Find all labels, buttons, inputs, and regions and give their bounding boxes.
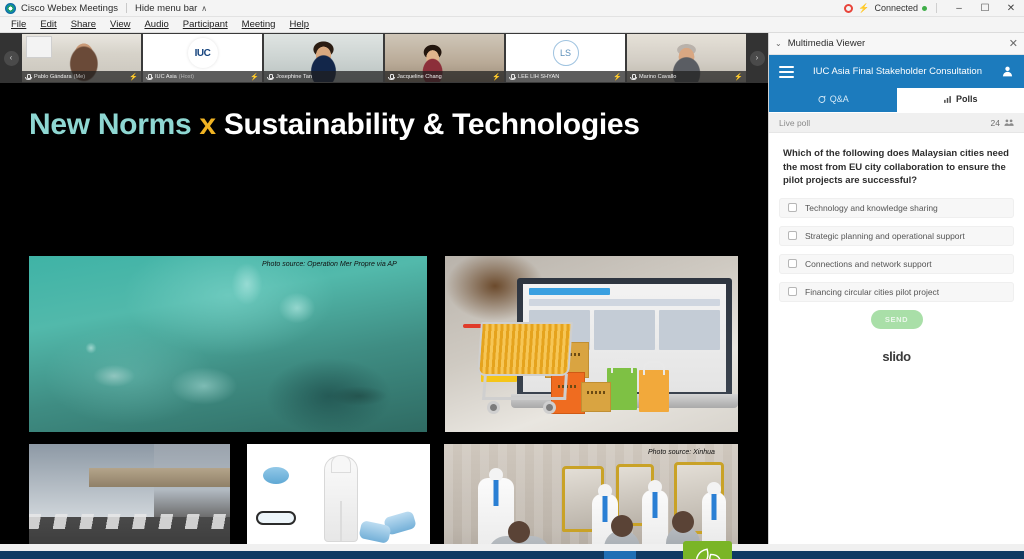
send-button[interactable]: SEND [871, 310, 923, 329]
cart-basket [477, 322, 573, 376]
tab-qa-label: Q&A [830, 94, 849, 104]
poll-question: Which of the following does Malaysian ci… [769, 133, 1024, 198]
close-panel-button[interactable]: ✕ [1009, 37, 1018, 50]
microphone-icon [630, 74, 636, 80]
multimedia-viewer-header: ⌄ Multimedia Viewer ✕ [769, 33, 1024, 55]
shopping-bag-orange [639, 370, 669, 412]
title-divider [936, 3, 937, 13]
thumbnail-list: Pablo Gándara (Me) ⚡ IUC IUC Asia (Host)… [22, 33, 746, 83]
connection-dot-icon [922, 6, 927, 11]
title-bar: Cisco Webex Meetings Hide menu bar ∧ ⚡ C… [0, 0, 1024, 17]
thumbnail-iuc-asia[interactable]: IUC IUC Asia (Host) ⚡ [143, 34, 262, 82]
menu-edit[interactable]: Edit [33, 17, 63, 33]
muted-icon: ⚡ [129, 74, 138, 81]
participant-count: 24 [991, 118, 1000, 128]
thumbnail-josephine-tan[interactable]: Josephine Tan [264, 34, 383, 82]
thumbnail-name-row: Jacqueline Chang ⚡ [385, 71, 504, 82]
poll-option-label: Strategic planning and operational suppo… [805, 231, 965, 241]
thumbnail-name-row: Josephine Tan [264, 71, 383, 82]
iuc-asia-logo-icon: IUC [188, 38, 218, 68]
maximize-button[interactable]: ☐ [972, 0, 998, 17]
slide-photo-street-mask [29, 444, 230, 559]
slide-corner-artifact [26, 36, 52, 58]
hamburger-menu-icon[interactable] [779, 66, 794, 78]
muted-icon: ⚡ [734, 74, 743, 81]
crosswalk-stripes [29, 514, 230, 529]
shopping-cart-illustration [469, 316, 589, 416]
thumbnail-pablo-gandara[interactable]: Pablo Gándara (Me) ⚡ [22, 34, 141, 82]
thumbnail-name-row: LEE LIH SHYAN ⚡ [506, 71, 625, 82]
menu-help[interactable]: Help [282, 17, 316, 33]
thumbnail-lee-lih-shyan[interactable]: LS LEE LIH SHYAN ⚡ [506, 34, 625, 82]
poll-option-4[interactable]: Financing circular cities pilot project [779, 282, 1014, 302]
menu-file-label: File [11, 19, 26, 30]
pedestrian-bridge [89, 468, 230, 486]
chevron-right-icon: › [750, 51, 765, 66]
chevron-left-icon: ‹ [4, 51, 19, 66]
menu-bar: File Edit Share View Audio Participant M… [0, 17, 1024, 33]
participant-name: Pablo Gándara [34, 74, 72, 80]
thumbnail-name-row: Marino Cavallo ⚡ [627, 71, 746, 82]
minimize-button[interactable]: – [946, 0, 972, 17]
thumbnail-name-row: Pablo Gándara (Me) ⚡ [22, 71, 141, 82]
poll-option-label: Technology and knowledge sharing [805, 203, 938, 213]
avatar: LS [553, 40, 579, 66]
menu-file[interactable]: File [4, 17, 33, 33]
screen-bar [529, 299, 720, 306]
cart-legs [482, 374, 568, 400]
participant-filmstrip: ‹ Pablo Gándara (Me) ⚡ IUC IUC Asia [0, 33, 768, 83]
menu-share[interactable]: Share [64, 17, 103, 33]
filmstrip-next-button[interactable]: › [746, 33, 768, 83]
bar-chart-icon [943, 95, 952, 104]
multimedia-viewer-panel: ⌄ Multimedia Viewer ✕ IUC Asia Final Sta… [768, 33, 1024, 544]
participant-name: Marino Cavallo [639, 74, 676, 80]
parcel-box-bottom [581, 382, 611, 412]
tab-polls-label: Polls [956, 94, 978, 104]
penang-green-council-logo: PENANG GREEN COUNCIL [683, 541, 732, 559]
chevron-up-icon[interactable]: ∧ [201, 4, 207, 13]
chevron-down-icon[interactable]: ⌄ [775, 39, 782, 48]
thumbnail-jacqueline-chang[interactable]: Jacqueline Chang ⚡ [385, 34, 504, 82]
poll-option-label: Financing circular cities pilot project [805, 287, 939, 297]
hide-menu-bar-label[interactable]: Hide menu bar [135, 3, 197, 14]
menu-help-label: Help [289, 19, 309, 30]
screen-bar [529, 288, 610, 295]
slide-title-part1: New Norms [29, 108, 191, 141]
slido-brand-logo: slido [769, 349, 1024, 364]
checkbox-icon[interactable] [788, 231, 797, 240]
muted-icon: ⚡ [492, 74, 501, 81]
title-bar-right: ⚡ Connected – ☐ ✕ [844, 0, 1024, 17]
surgical-cap [263, 467, 289, 484]
microphone-icon [146, 74, 152, 80]
menu-share-label: Share [71, 19, 96, 30]
checkbox-icon[interactable] [788, 259, 797, 268]
filmstrip-prev-button[interactable]: ‹ [0, 33, 22, 83]
live-poll-status-bar: Live poll 24 [769, 113, 1024, 133]
menu-participant-label: Participant [183, 19, 228, 30]
cart-wheel [487, 401, 500, 414]
photo-credit-barbershop: Photo source: Xinhua [648, 449, 715, 456]
slide-title-x: x [199, 108, 215, 141]
menu-edit-label: Edit [40, 19, 56, 30]
slido-tab-bar: Q&A Polls [769, 88, 1024, 112]
participant-count-group: 24 [991, 118, 1014, 128]
muted-icon: ⚡ [250, 74, 259, 81]
participant-suffix: (Me) [74, 74, 86, 80]
poll-option-label: Connections and network support [805, 259, 932, 269]
leaf-icon [693, 547, 723, 559]
slide-photo-barbershop: PENANG GREEN COUNCIL [444, 444, 738, 559]
title-separator [126, 3, 127, 13]
microphone-icon [388, 74, 394, 80]
speech-bubble-icon [817, 95, 826, 104]
slido-header: IUC Asia Final Stakeholder Consultation [769, 55, 1024, 88]
connection-status: Connected [874, 3, 918, 13]
slide-photo-underwater-pollution [29, 256, 427, 432]
menu-meeting-label: Meeting [242, 19, 276, 30]
slide-photo-ppe-kit [247, 444, 430, 559]
slide-photo-ecommerce [445, 256, 738, 432]
menu-view-label: View [110, 19, 130, 30]
poll-option-3[interactable]: Connections and network support [779, 254, 1014, 274]
shared-content-stage[interactable]: New Norms x Sustainability & Technologie… [0, 83, 768, 544]
participant-suffix: (Host) [179, 74, 194, 80]
close-window-button[interactable]: ✕ [998, 0, 1024, 17]
coverall-suit [324, 456, 358, 542]
people-icon [1004, 118, 1014, 127]
shopping-bag-green [607, 368, 637, 410]
participant-name: Josephine Tan [276, 74, 312, 80]
cart-wheel [543, 401, 556, 414]
menu-participant[interactable]: Participant [176, 17, 235, 33]
recording-icon[interactable] [844, 4, 853, 13]
thumbnail-marino-cavallo[interactable]: Marino Cavallo ⚡ [627, 34, 746, 82]
taskbar-active-app[interactable] [604, 551, 636, 559]
microphone-active-icon [267, 74, 273, 80]
send-button-row: SEND [769, 310, 1024, 329]
slido-event-title: IUC Asia Final Stakeholder Consultation [794, 66, 1001, 77]
photo-credit-underwater: Photo source: Operation Mer Propre via A… [262, 261, 397, 268]
thumbnail-name-row: IUC Asia (Host) ⚡ [143, 71, 262, 82]
presentation-slide: New Norms x Sustainability & Technologie… [0, 83, 768, 544]
user-account-icon[interactable] [1001, 65, 1014, 78]
live-poll-label: Live poll [779, 118, 810, 128]
poll-option-1[interactable]: Technology and knowledge sharing [779, 198, 1014, 218]
menu-view[interactable]: View [103, 17, 137, 33]
menu-audio-label: Audio [144, 19, 168, 30]
slide-title-part2: Sustainability & Technologies [224, 108, 640, 141]
participant-name: LEE LIH SHYAN [518, 74, 559, 80]
microphone-icon [25, 74, 31, 80]
microphone-icon [509, 74, 515, 80]
participant-name: IUC Asia [155, 74, 177, 80]
network-indicator-icon: ⚡ [858, 3, 869, 14]
muted-icon: ⚡ [613, 74, 622, 81]
poll-option-2[interactable]: Strategic planning and operational suppo… [779, 226, 1014, 246]
safety-goggles [256, 511, 296, 525]
checkbox-icon[interactable] [788, 203, 797, 212]
checkbox-icon[interactable] [788, 287, 797, 296]
app-title: Cisco Webex Meetings [21, 3, 118, 14]
tab-qa[interactable]: Q&A [769, 88, 897, 112]
panel-title: Multimedia Viewer [788, 38, 865, 49]
menu-audio[interactable]: Audio [137, 17, 175, 33]
os-taskbar[interactable] [0, 551, 1024, 559]
tab-polls[interactable]: Polls [897, 88, 1024, 112]
poll-body: Live poll 24 Which of the following does… [769, 113, 1024, 544]
menu-meeting[interactable]: Meeting [235, 17, 283, 33]
participant-name: Jacqueline Chang [397, 74, 442, 80]
slide-title: New Norms x Sustainability & Technologie… [29, 108, 640, 142]
webex-logo-icon [5, 3, 16, 14]
webex-meeting-window: Cisco Webex Meetings Hide menu bar ∧ ⚡ C… [0, 0, 1024, 559]
